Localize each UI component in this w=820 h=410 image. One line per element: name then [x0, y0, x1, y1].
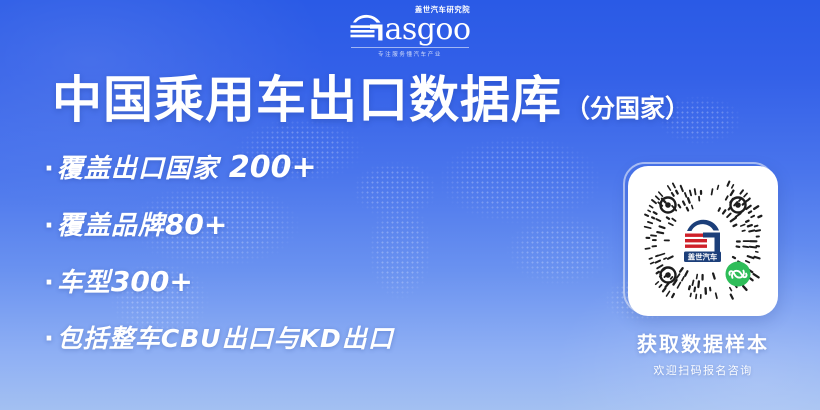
page-title-suffix: （分国家） — [565, 96, 690, 121]
bullet-marker-icon: · — [44, 154, 55, 184]
export-database-promo-banner: asgoo 盖世汽车研究院 专注服务懂汽车产业 中国乘用车出口数据库 （分国家）… — [0, 0, 820, 410]
bullet-label: 覆盖出口国家 — [57, 148, 219, 185]
gasgoo-wordmark: asgoo — [384, 15, 470, 45]
list-item: · 覆盖品牌 80+ — [44, 205, 394, 242]
gasgoo-logo-main: asgoo 盖世汽车研究院 — [349, 14, 470, 46]
wechat-miniprogram-qr-code-icon[interactable]: 盖世汽车 — [637, 175, 769, 307]
gasgoo-g-mark-icon — [349, 13, 383, 47]
gasgoo-cn-name: 盖世汽车研究院 — [415, 5, 470, 15]
list-item: · 包括整车CBU出口与KD出口 — [44, 319, 394, 355]
bullet-marker-icon: · — [44, 211, 55, 241]
gasgoo-logo: asgoo 盖世汽车研究院 专注服务懂汽车产业 — [344, 14, 476, 60]
wechat-miniprogram-badge-icon — [726, 262, 751, 287]
list-item: · 覆盖出口国家 200+ — [44, 148, 394, 185]
bullet-marker-icon: · — [44, 268, 55, 298]
qr-code-card[interactable]: 盖世汽车 — [628, 166, 778, 316]
page-title-main: 中国乘用车出口数据库 — [52, 72, 562, 128]
bullet-value: 80+ — [165, 208, 227, 241]
gasgoo-tagline: 专注服务懂汽车产业 — [351, 47, 469, 58]
svg-text:盖世汽车: 盖世汽车 — [688, 253, 718, 262]
bullet-label: 覆盖品牌 — [57, 205, 165, 242]
bullet-value: 300+ — [111, 265, 193, 298]
qr-caption: 获取数据样本 欢迎扫码报名咨询 — [628, 328, 778, 378]
brand-logo-area: asgoo 盖世汽车研究院 专注服务懂汽车产业 — [0, 14, 820, 60]
feature-bullet-list: · 覆盖出口国家 200+ · 覆盖品牌 80+ · 车型 300+ · 包括整… — [44, 148, 394, 355]
page-title: 中国乘用车出口数据库 （分国家） — [52, 72, 690, 128]
qr-caption-subtitle: 欢迎扫码报名咨询 — [628, 362, 778, 378]
bullet-label: 包括整车CBU出口与KD出口 — [57, 319, 394, 355]
bullet-marker-icon: · — [44, 324, 55, 354]
qr-caption-title: 获取数据样本 — [628, 328, 778, 357]
bullet-label: 车型 — [57, 262, 111, 299]
qr-code-block: 盖世汽车 获取数据样本 欢迎扫码报名咨询 — [628, 166, 798, 378]
bullet-value: 200+ — [229, 150, 317, 185]
list-item: · 车型 300+ — [44, 262, 394, 299]
